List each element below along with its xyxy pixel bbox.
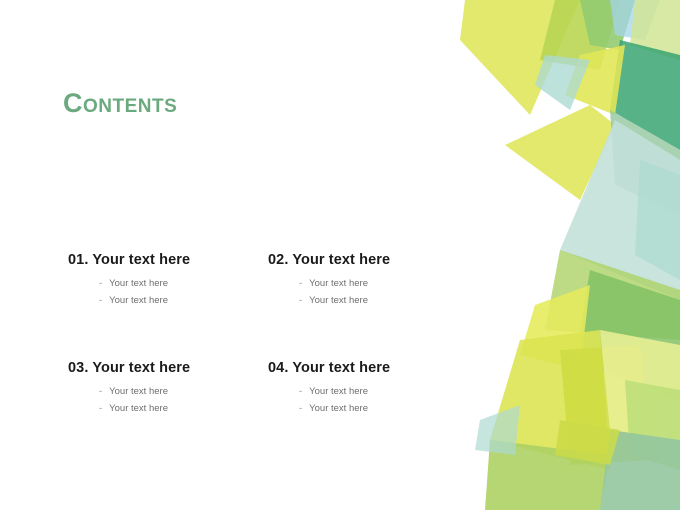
list-item-label: Your text here [109,278,168,289]
slide-canvas: Contents 01. Your text here - Your text … [0,0,680,510]
contents-item-02-bullets: - Your text here - Your text here [268,278,468,306]
list-item: - Your text here [99,386,268,397]
facet-sage [610,110,680,215]
facet-teal-small [535,55,590,110]
list-item: - Your text here [99,403,268,414]
bullet-marker-icon: - [299,295,302,306]
contents-row-top: 01. Your text here - Your text here - Yo… [68,252,468,312]
contents-item-03-heading: 03. Your text here [68,360,268,376]
facet-sliver-teal [475,405,520,455]
contents-grid: 01. Your text here - Your text here - Yo… [68,252,468,420]
contents-item-04-bullets: - Your text here - Your text here [268,386,468,414]
bullet-marker-icon: - [99,386,102,397]
facet-arrow-yellow [505,105,615,200]
facet-top-green [580,0,635,50]
facet-bottom-bright [560,345,650,465]
facet-top-yellow [460,0,580,115]
bullet-marker-icon: - [99,278,102,289]
facet-bottom-right-block [600,430,680,510]
low-poly-triangles-decoration [460,0,680,510]
bullet-marker-icon: - [99,403,102,414]
facet-bottom-lime [625,380,680,470]
facet-deep-green [610,40,680,150]
list-item-label: Your text here [109,386,168,397]
facet-mid-yellow [565,45,625,115]
facet-lower-yellow [520,285,590,370]
list-item-label: Your text here [109,403,168,414]
facet-bottom-accent [555,420,620,465]
contents-item-02[interactable]: 02. Your text here - Your text here - Yo… [268,252,468,312]
contents-item-01-heading: 01. Your text here [68,252,268,268]
facet-teal-overlay [635,160,680,280]
bullet-marker-icon: - [299,386,302,397]
bullet-marker-icon: - [299,278,302,289]
contents-row-bottom: 03. Your text here - Your text here - Yo… [68,360,468,420]
list-item: - Your text here [299,403,468,414]
facet-lower-midgreen [575,270,680,400]
artwork-svg [460,0,680,510]
list-item: - Your text here [299,278,468,289]
list-item: - Your text here [299,386,468,397]
contents-item-03-bullets: - Your text here - Your text here [68,386,268,414]
list-item: - Your text here [299,295,468,306]
list-item-label: Your text here [109,295,168,306]
list-item-label: Your text here [309,386,368,397]
list-item: - Your text here [99,278,268,289]
contents-item-02-heading: 02. Your text here [268,252,468,268]
facet-bottom-left-block [485,440,610,510]
list-item-label: Your text here [309,295,368,306]
facet-top-olive [540,0,620,70]
list-item-label: Your text here [309,278,368,289]
facet-pale-teal-large [560,120,680,300]
facet-lower-lightgreen [545,250,680,340]
facet-top-blue [610,0,660,40]
contents-item-04[interactable]: 04. Your text here - Your text here - Yo… [268,360,468,420]
facet-bottom-chartreuse [490,330,610,470]
bullet-marker-icon: - [99,295,102,306]
bullet-marker-icon: - [299,403,302,414]
list-item-label: Your text here [309,403,368,414]
page-title: Contents [63,88,177,119]
list-item: - Your text here [99,295,268,306]
contents-item-01-bullets: - Your text here - Your text here [68,278,268,306]
facet-bottom-pale [600,330,680,440]
contents-item-03[interactable]: 03. Your text here - Your text here - Yo… [68,360,268,420]
contents-item-01[interactable]: 01. Your text here - Your text here - Yo… [68,252,268,312]
contents-item-04-heading: 04. Your text here [268,360,468,376]
facet-top-pale [630,0,680,60]
